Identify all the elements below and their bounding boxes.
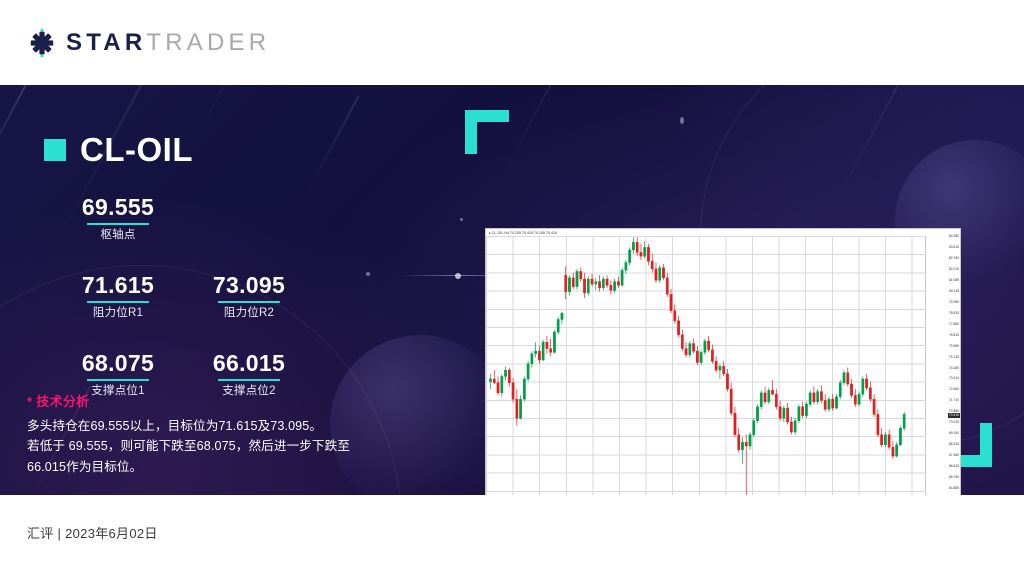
price-tick-label: 76.815: [949, 333, 959, 337]
price-tick-label: 67.460: [949, 453, 959, 457]
level-value: 73.095: [189, 273, 309, 297]
accent-square-icon: [44, 139, 66, 161]
price-tick-label: 73.410: [949, 376, 959, 380]
price-tick-label: 68.315: [949, 442, 959, 446]
instrument-title-row: CL-OIL: [44, 133, 193, 166]
price-tick-label: 82.760: [949, 256, 959, 260]
price-tick-label: 81.085: [949, 278, 959, 282]
brand-logo: STARTRADER: [27, 28, 270, 58]
left-content: CL-OIL 69.555 枢轴点 71.615 阻力位R1 73.095 阻力…: [0, 85, 440, 495]
level-value: 66.015: [189, 351, 309, 375]
price-tick-label: 65.760: [949, 475, 959, 479]
price-tick-label: 70.015: [949, 420, 959, 424]
level-value: 68.075: [58, 351, 178, 375]
main-panel: CL-OIL 69.555 枢轴点 71.615 阻力位R1 73.095 阻力…: [0, 85, 1024, 495]
brand-star: STAR: [66, 29, 146, 56]
analysis-line-1: 多头持仓在69.555以上，目标位为71.615及73.095。: [27, 416, 407, 436]
analysis-heading: * 技术分析: [27, 391, 407, 410]
footer-caption: 汇评 | 2023年6月02日: [27, 523, 158, 542]
level-label: 阻力位R2: [189, 307, 309, 320]
analysis-line-2: 若低于 69.555，则可能下跌至68.075，然后进一步下跌至: [27, 436, 407, 456]
star-asterisk-icon: [27, 28, 57, 58]
level-underline: [87, 223, 149, 225]
candle-series: [486, 236, 926, 495]
level-resistance1: 71.615 阻力位R1: [58, 273, 178, 320]
price-tick-label: 75.965: [949, 344, 959, 348]
level-value: 71.615: [58, 273, 178, 297]
chart-container: ▸ CL-OIL,H4 70.205 70.415 70.155 70.415 …: [455, 110, 1000, 475]
price-tick-label: 78.510: [949, 311, 959, 315]
page-title: CL-OIL: [80, 133, 193, 166]
level-label: 枢轴点: [58, 229, 178, 242]
price-tick-label: 77.860: [949, 322, 959, 326]
price-tick-label: 79.380: [949, 300, 959, 304]
corner-bracket-bottom-right-vertical: [980, 423, 992, 467]
price-axis: 84.38083.61582.76082.01081.08580.11579.3…: [925, 236, 960, 495]
price-tick-label: 84.380: [949, 234, 959, 238]
price-tick-label: 64.855: [949, 486, 959, 490]
price-tick-label: 72.660: [949, 387, 959, 391]
poster-root: STARTRADER CL-OI: [0, 0, 1024, 576]
footer-bar: 汇评 | 2023年6月02日: [0, 495, 1024, 576]
level-underline: [87, 301, 149, 303]
current-price-marker: 70.415: [948, 413, 960, 418]
corner-bracket-top-left-vertical: [465, 110, 477, 154]
header-bar: STARTRADER: [0, 0, 1024, 85]
price-tick-label: 75.135: [949, 355, 959, 359]
price-tick-label: 82.010: [949, 267, 959, 271]
price-tick-label: 69.140: [949, 431, 959, 435]
level-underline: [218, 301, 280, 303]
candlestick-chart[interactable]: ▸ CL-OIL,H4 70.205 70.415 70.155 70.415 …: [485, 228, 961, 495]
chart-plot-area: [486, 236, 926, 495]
chart-collapse-icon: ▸: [489, 231, 491, 235]
price-tick-label: 74.265: [949, 366, 959, 370]
level-pivot: 69.555 枢轴点: [58, 195, 178, 242]
brand-wordmark: STARTRADER: [66, 31, 270, 55]
analysis-body: 多头持仓在69.555以上，目标位为71.615及73.095。 若低于 69.…: [27, 416, 407, 477]
chart-header-text: CL-OIL,H4 70.205 70.415 70.155 70.415: [492, 231, 557, 235]
technical-analysis: * 技术分析 多头持仓在69.555以上，目标位为71.615及73.095。 …: [27, 391, 407, 477]
price-tick-label: 80.115: [949, 289, 959, 293]
level-resistance2: 73.095 阻力位R2: [189, 273, 309, 320]
price-tick-label: 71.710: [949, 398, 959, 402]
price-tick-label: 83.615: [949, 245, 959, 249]
brand-trader: TRADER: [146, 29, 270, 56]
level-label: 阻力位R1: [58, 307, 178, 320]
level-value: 69.555: [58, 195, 178, 219]
level-underline: [218, 379, 280, 381]
price-tick-label: 66.615: [949, 464, 959, 468]
analysis-line-3: 66.015作为目标位。: [27, 457, 407, 477]
level-underline: [87, 379, 149, 381]
